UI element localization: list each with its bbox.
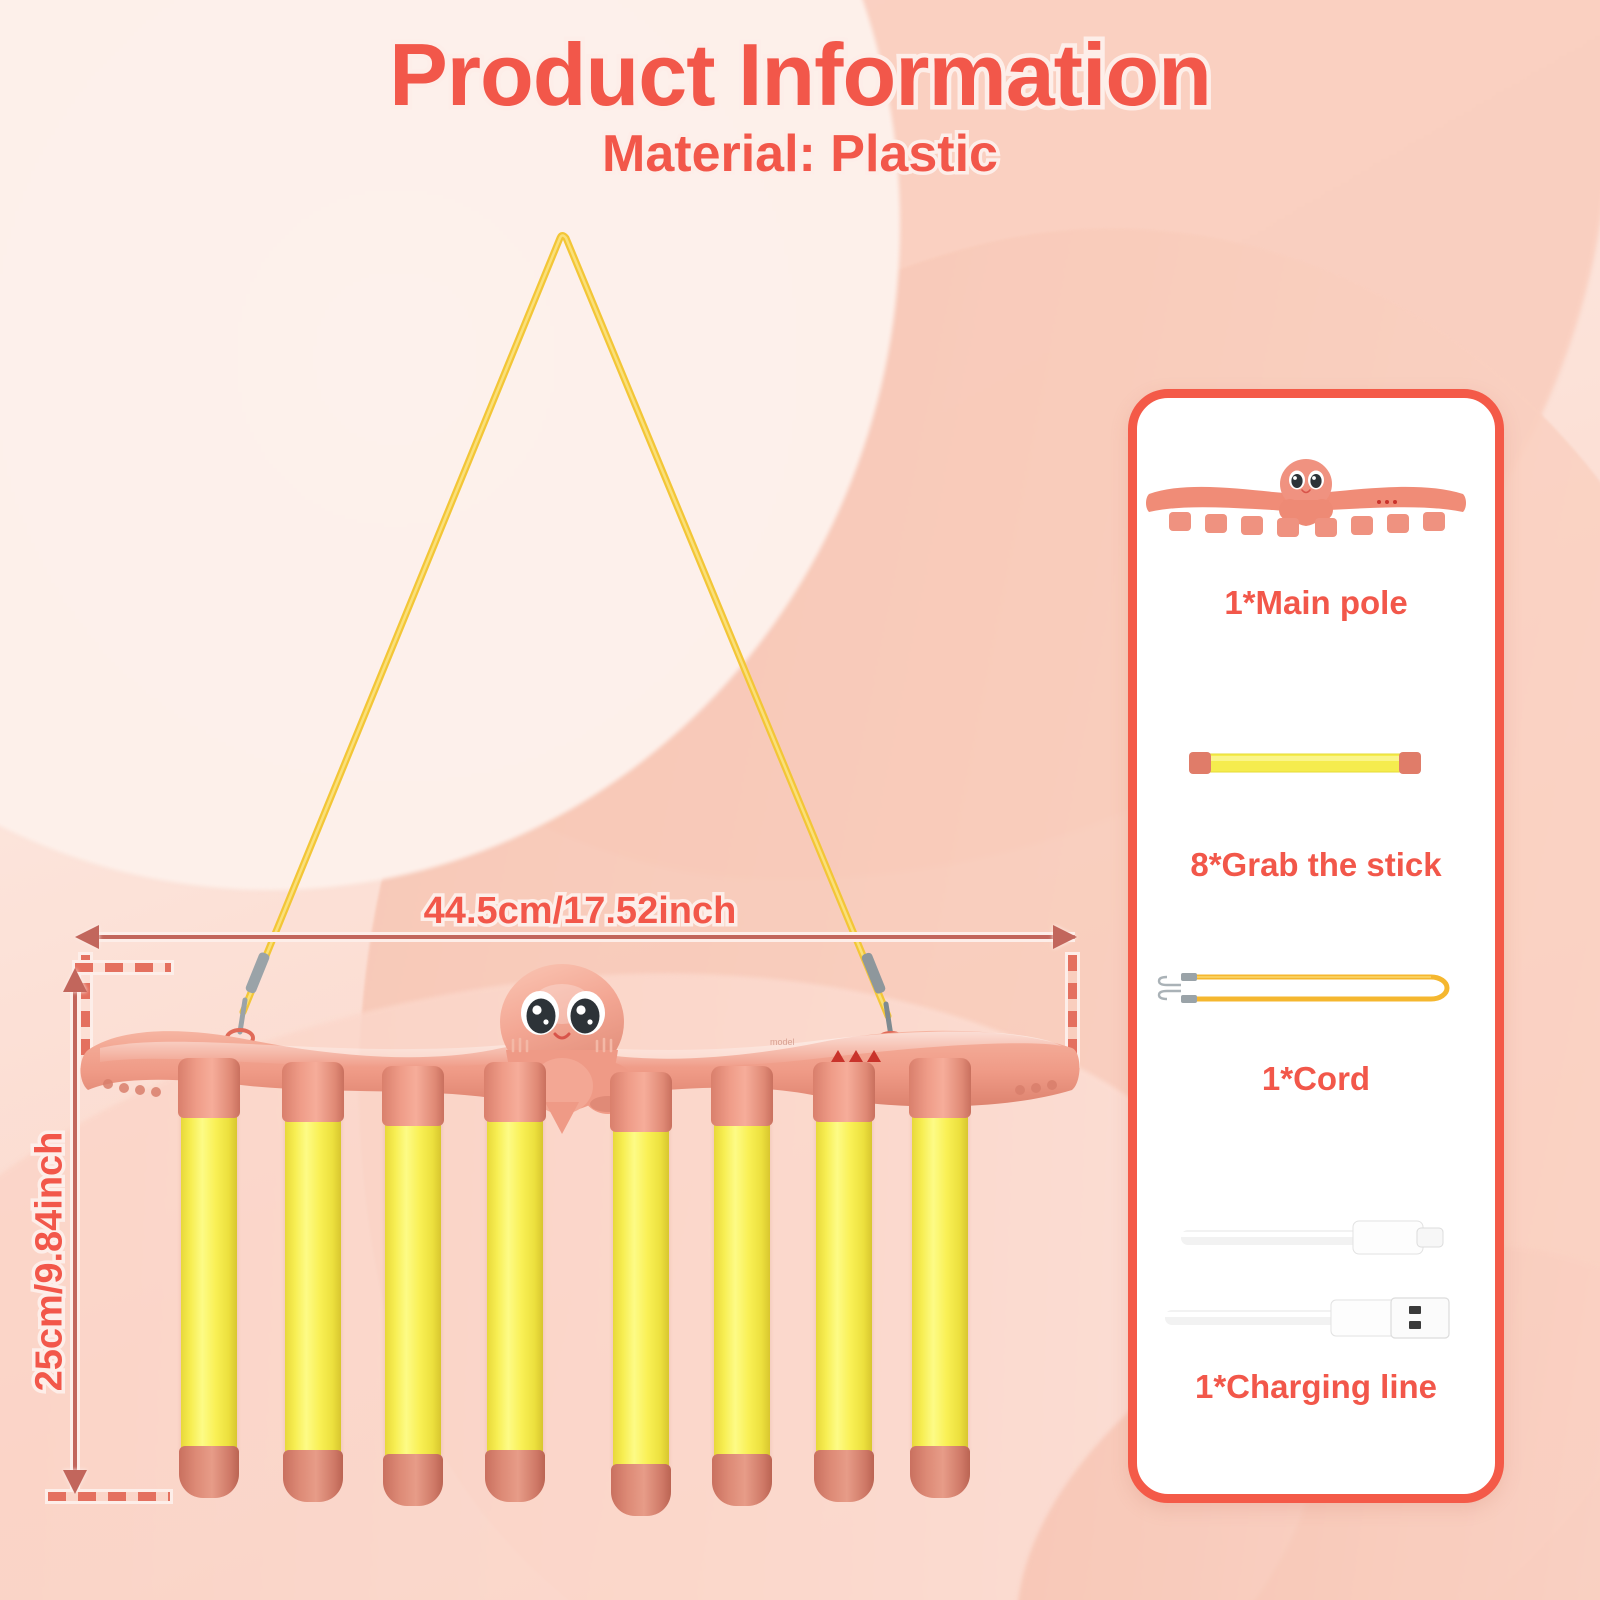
package-contents-card: 1*Main pole 8*Grab the stick 1*Cord xyxy=(1128,389,1504,1503)
usb-charging-cable-icon xyxy=(1177,1210,1457,1266)
contents-label-charging-line: 1*Charging line xyxy=(1137,1368,1495,1406)
usb-a-connector-icon xyxy=(1161,1288,1461,1348)
product-information-infographic: Product Information Material: Plastic 44… xyxy=(0,0,1600,1600)
width-arrowhead-right xyxy=(1053,925,1077,949)
lanyard-cord-icon xyxy=(1145,963,1475,1013)
contents-label-cord: 1*Cord xyxy=(1137,1060,1495,1098)
page-subtitle: Material: Plastic xyxy=(0,124,1600,184)
grab-stick-icon xyxy=(1185,743,1425,783)
height-arrow-line xyxy=(73,978,77,1490)
page-title: Product Information xyxy=(0,24,1600,126)
height-arrowhead-bottom xyxy=(63,1470,87,1494)
height-dimension-label: 25cm/9.84inch xyxy=(29,1052,72,1472)
height-extension-line-top xyxy=(75,963,171,972)
height-arrowhead-top xyxy=(63,968,87,992)
octopus-pole-icon xyxy=(1143,454,1473,544)
width-extension-line-right xyxy=(1068,955,1077,1065)
width-dimension-label: 44.5cm/17.52inch xyxy=(330,890,830,933)
width-arrow-line xyxy=(85,935,1075,939)
width-arrowhead-left xyxy=(75,925,99,949)
contents-label-grab-stick: 8*Grab the stick xyxy=(1137,846,1495,884)
contents-label-main-pole: 1*Main pole xyxy=(1137,584,1495,622)
